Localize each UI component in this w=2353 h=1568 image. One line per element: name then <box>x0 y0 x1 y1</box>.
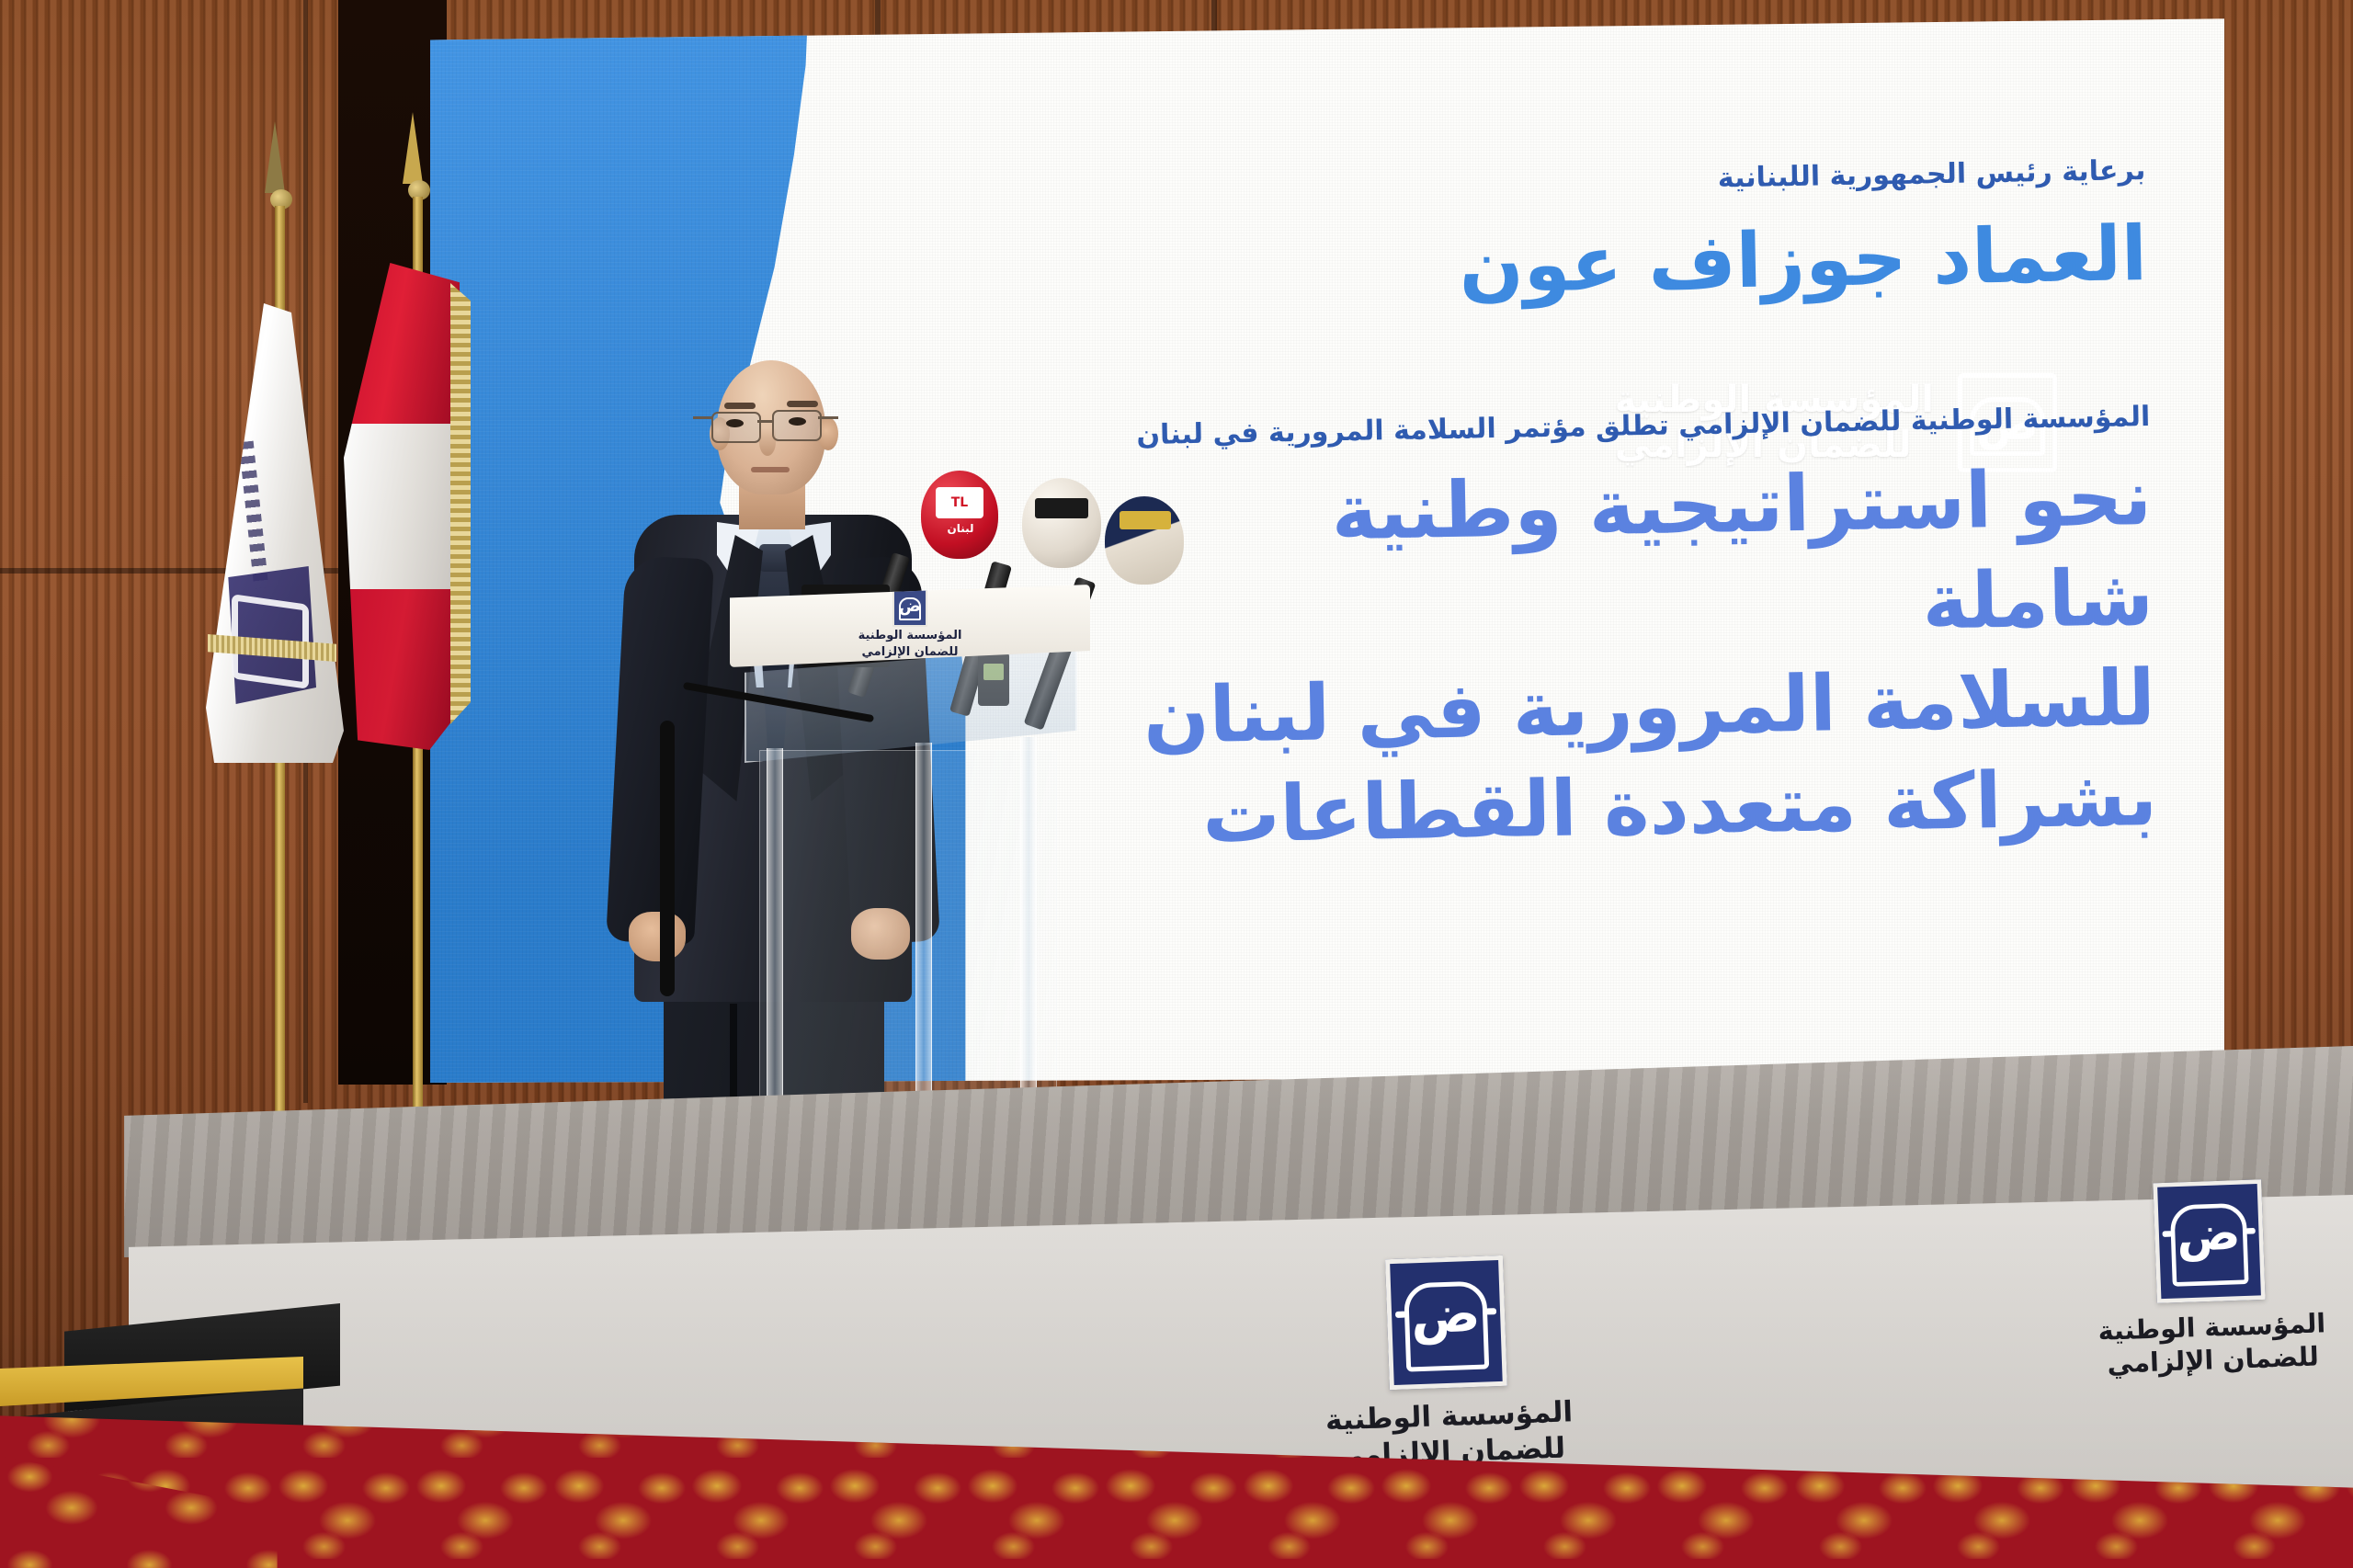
lectern-sign-line1: المؤسسة الوطنية <box>858 629 962 643</box>
mic-cable-vertical <box>660 721 675 996</box>
headline-line-2: للسلامة المرورية في لبنان <box>1079 648 2156 768</box>
conference-subline: المؤسسة الوطنية للضمان الإلزامي تطلق مؤت… <box>1074 401 2150 452</box>
flag-finial-spear-lebanon <box>403 112 423 184</box>
speaker-eye-right <box>789 417 806 426</box>
speaker-mouth <box>751 467 790 472</box>
flag-finial-spear <box>265 121 285 193</box>
stage-dad-glyph-2: ض <box>2158 1210 2259 1260</box>
press-conference-scene: المؤسسة الوطنية للضمان الإلزامي ض برعاية… <box>0 0 2353 1568</box>
stage-car-shield-icon-1: ض <box>1385 1256 1507 1390</box>
stage-dad-glyph-1: ض <box>1391 1288 1501 1343</box>
headline-line-1: نحو استراتيجية وطنية شاملة <box>1075 448 2154 668</box>
stage-logo-text-2: المؤسسة الوطنية للضمان الإلزامي <box>2097 1308 2327 1381</box>
stage-car-shield-icon-2: ض <box>2153 1179 2265 1303</box>
mic-navy-gold <box>1009 496 1088 585</box>
mic-flag-gold <box>1120 511 1171 529</box>
speaker-eyebrow-left <box>724 403 756 409</box>
lebanon-flag-fringe <box>450 283 471 724</box>
flag-stripe-red-top <box>344 263 460 424</box>
mic-windscreen-navy <box>1105 496 1184 585</box>
lebanon-flag <box>344 263 460 750</box>
headline-line-3: بشراكة متعددة القطاعات <box>1081 748 2158 869</box>
speaker-eye-left <box>726 419 744 427</box>
president-name: العماد جوزاف عون <box>1071 210 2148 319</box>
eyeglass-arm-left <box>693 416 713 419</box>
eyeglass-lens-right <box>772 410 822 441</box>
lectern-car-shield-icon: ض <box>892 588 927 627</box>
lectern-dad-glyph: ض <box>894 598 926 615</box>
flag-text-mark <box>239 441 269 589</box>
speaker-eyebrow-right <box>787 401 818 407</box>
stage-logo-1: ض المؤسسة الوطنية للضمان الإلزامي <box>1320 1253 1574 1474</box>
flag-stripe-white <box>344 424 460 589</box>
flag-stripe-red-bottom <box>344 589 460 750</box>
eyeglass-bridge <box>757 420 772 423</box>
lectern-sign-line2: للضمان الإلزامي <box>862 645 959 660</box>
mic-tl-lebanon: TL لبنان <box>825 471 903 559</box>
eyeglass-lens-left <box>711 412 761 443</box>
stage-logo-2: ض المؤسسة الوطنية للضمان الإلزامي <box>2093 1177 2327 1381</box>
backdrop-text-block: برعاية رئيس الجمهورية اللبنانية العماد ج… <box>1070 154 2158 869</box>
mic-white <box>926 478 1006 568</box>
eyeglass-arm-right <box>818 416 838 419</box>
lebanon-flag-clip <box>344 263 460 750</box>
speaker-hand-left <box>629 912 686 961</box>
speaker-nose <box>759 428 776 456</box>
